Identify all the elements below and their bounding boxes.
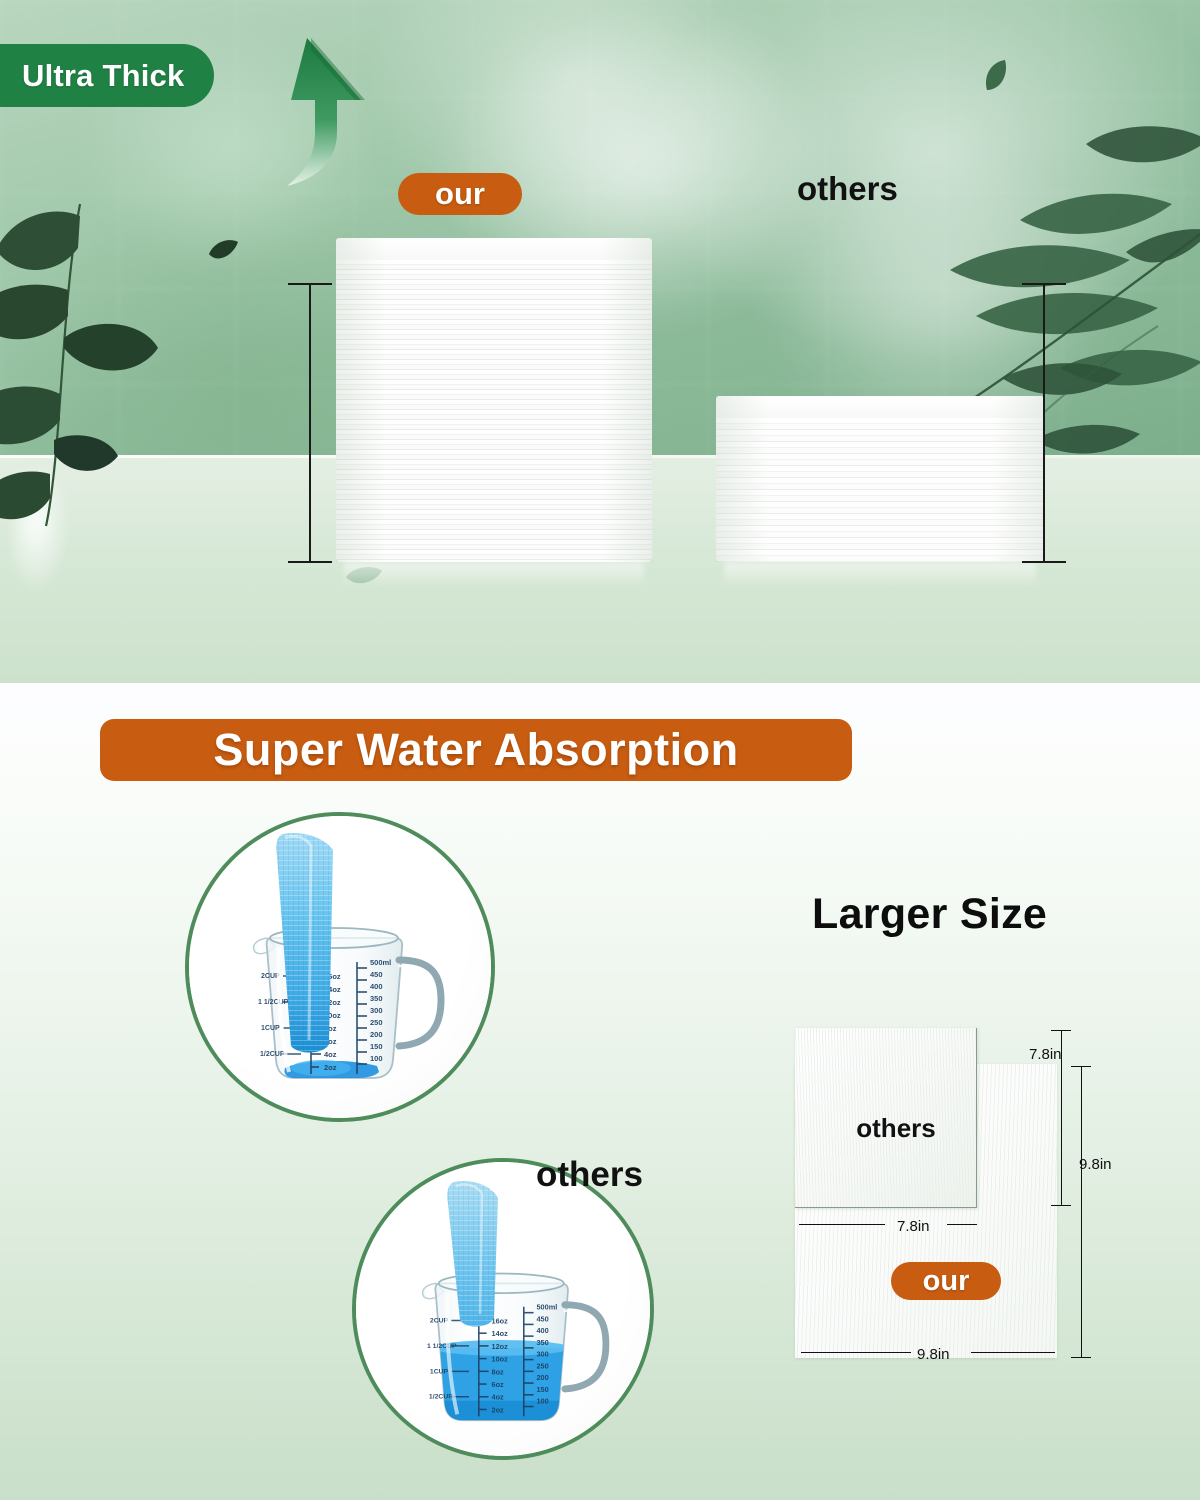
ultra-thick-panel: Ultra Thick our others	[0, 0, 1200, 683]
absorbent-cloth-our-icon	[263, 830, 367, 1060]
svg-text:450: 450	[370, 970, 383, 979]
svg-text:450: 450	[536, 1314, 548, 1323]
svg-text:6oz: 6oz	[492, 1380, 505, 1389]
leaf-vine-icon	[0, 198, 182, 528]
our-towel-stack	[336, 238, 652, 562]
others-label-top: others	[797, 170, 898, 208]
floating-leaf-icon	[983, 60, 1009, 92]
stack-reflection	[724, 562, 1036, 588]
svg-text:150: 150	[536, 1385, 548, 1394]
svg-text:150: 150	[370, 1042, 383, 1051]
svg-text:350: 350	[370, 994, 383, 1003]
our-width-dim-label: 9.8in	[917, 1346, 950, 1363]
banner-label: Super Water Absorption	[213, 724, 738, 776]
our-sheet-label: our	[891, 1262, 1001, 1300]
svg-text:1/2CUP: 1/2CUP	[429, 1394, 453, 1401]
stack-layers	[336, 260, 652, 562]
larger-size-title: Larger Size	[812, 890, 1047, 939]
size-comparison-diagram: others our 7.8in 9.8in 7.8in 9.8in	[795, 1028, 1083, 1358]
others-towel-stack	[716, 396, 1044, 562]
svg-text:1CUP: 1CUP	[430, 1368, 449, 1375]
others-sheet: others	[795, 1028, 977, 1208]
svg-text:500ml: 500ml	[536, 1303, 557, 1312]
our-height-dim-label: 9.8in	[1079, 1156, 1112, 1173]
floating-leaf-icon	[207, 238, 239, 264]
measure-bar	[309, 283, 311, 563]
arrow-up-icon	[253, 36, 373, 186]
our-label-top-text: our	[435, 176, 485, 212]
svg-text:500ml: 500ml	[370, 958, 391, 967]
svg-text:2oz: 2oz	[324, 1063, 337, 1072]
svg-text:100: 100	[370, 1054, 383, 1063]
measure-cap-bottom	[1022, 561, 1066, 563]
stack-top-face	[336, 238, 652, 260]
svg-text:14oz: 14oz	[492, 1329, 509, 1338]
our-height-dim-line	[1081, 1066, 1082, 1358]
svg-text:8oz: 8oz	[492, 1367, 505, 1376]
others-width-dim-line	[799, 1224, 885, 1225]
svg-text:400: 400	[370, 982, 383, 991]
dim-tick	[1071, 1066, 1091, 1067]
product-feature-image: Ultra Thick our others	[0, 0, 1200, 1500]
our-thickness-measure-line	[288, 283, 332, 563]
others-label-absorption: others	[536, 1155, 643, 1195]
ultra-thick-badge-label: Ultra Thick	[22, 58, 184, 94]
svg-text:250: 250	[536, 1361, 548, 1370]
absorbent-cloth-others-icon	[438, 1180, 524, 1330]
stack-reflection	[344, 562, 644, 588]
svg-text:350: 350	[536, 1338, 548, 1347]
others-thickness-measure-line	[1022, 283, 1066, 563]
dim-tick	[1051, 1030, 1071, 1031]
our-sheet-label-text: our	[923, 1265, 970, 1298]
ultra-thick-badge: Ultra Thick	[0, 44, 214, 107]
svg-text:200: 200	[536, 1373, 548, 1382]
svg-text:200: 200	[370, 1030, 383, 1039]
svg-text:100: 100	[536, 1397, 548, 1406]
super-water-absorption-banner: Super Water Absorption	[100, 719, 852, 781]
dim-tick	[1071, 1357, 1091, 1358]
svg-text:400: 400	[536, 1326, 548, 1335]
svg-text:300: 300	[370, 1006, 383, 1015]
others-height-dim-label: 7.8in	[1029, 1046, 1062, 1063]
others-width-dim-label: 7.8in	[897, 1218, 930, 1235]
svg-text:300: 300	[536, 1350, 548, 1359]
others-sheet-label: others	[821, 1113, 971, 1144]
svg-text:1 1/2CUP: 1 1/2CUP	[427, 1343, 457, 1350]
svg-text:10oz: 10oz	[492, 1355, 509, 1364]
our-absorption-photo: 2CUP 1 1/2CUP 1CUP 1/2CUP 16oz 14oz	[185, 812, 495, 1122]
svg-text:250: 250	[370, 1018, 383, 1027]
svg-text:12oz: 12oz	[492, 1342, 509, 1351]
svg-text:2oz: 2oz	[492, 1405, 505, 1414]
measure-bar	[1043, 283, 1045, 563]
our-label-top: our	[398, 173, 522, 215]
svg-text:4oz: 4oz	[492, 1393, 505, 1402]
others-width-dim-line	[947, 1224, 977, 1225]
stack-top-face	[716, 396, 1044, 418]
dim-tick	[1051, 1205, 1071, 1206]
our-width-dim-line	[971, 1352, 1055, 1353]
others-absorption-photo: 2CUP 1 1/2CUP 1CUP 1/2CUP 16oz 14oz 12oz	[352, 1158, 654, 1460]
measure-cap-bottom	[288, 561, 332, 563]
our-width-dim-line	[801, 1352, 911, 1353]
stack-layers	[716, 418, 1044, 562]
